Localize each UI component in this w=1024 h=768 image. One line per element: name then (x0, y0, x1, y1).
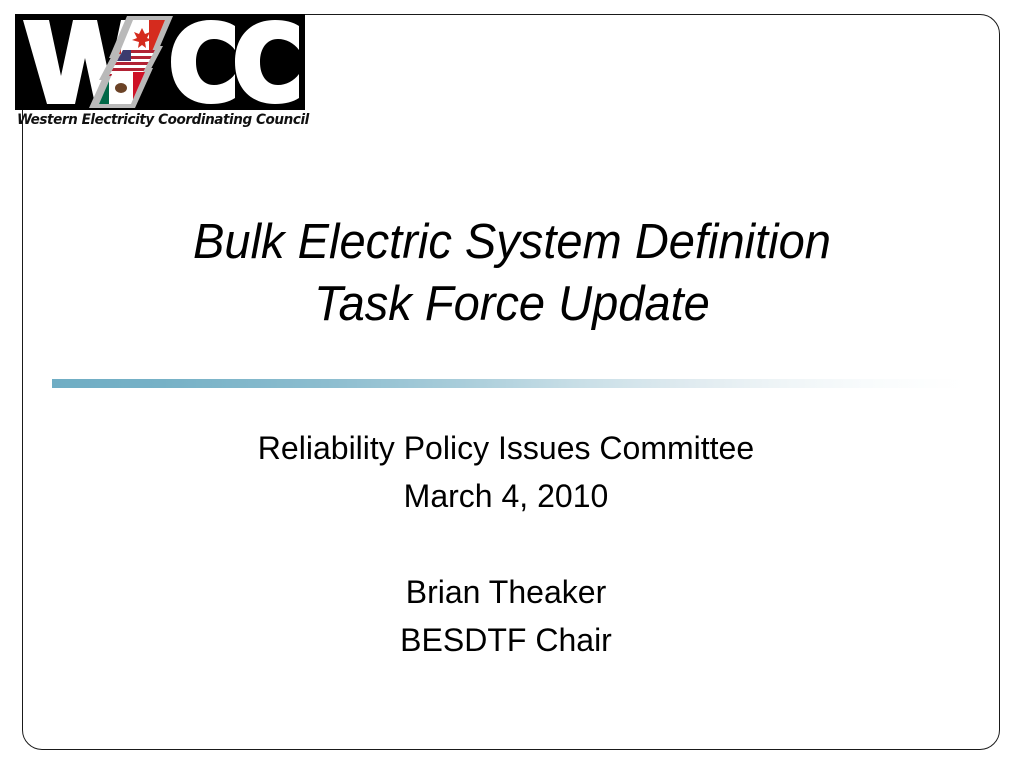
slide: Western Electricity Coordinating Council… (0, 0, 1024, 768)
presenter-role: BESDTF Chair (59, 616, 953, 664)
title-divider (52, 379, 966, 388)
logo-black-box (15, 14, 305, 110)
wecc-logo: Western Electricity Coordinating Council (15, 14, 305, 136)
spacer (52, 520, 960, 568)
subtitle-block: Reliability Policy Issues Committee Marc… (52, 424, 960, 664)
page-title: Bulk Electric System Definition Task For… (52, 211, 972, 335)
title-line-1: Bulk Electric System Definition (70, 211, 953, 273)
presenter-name: Brian Theaker (59, 568, 953, 616)
wecc-wordmark-icon (15, 14, 305, 110)
meeting-date: March 4, 2010 (59, 472, 953, 520)
committee-name: Reliability Policy Issues Committee (59, 424, 953, 472)
logo-caption: Western Electricity Coordinating Council (17, 112, 304, 128)
title-line-2: Task Force Update (70, 273, 953, 335)
